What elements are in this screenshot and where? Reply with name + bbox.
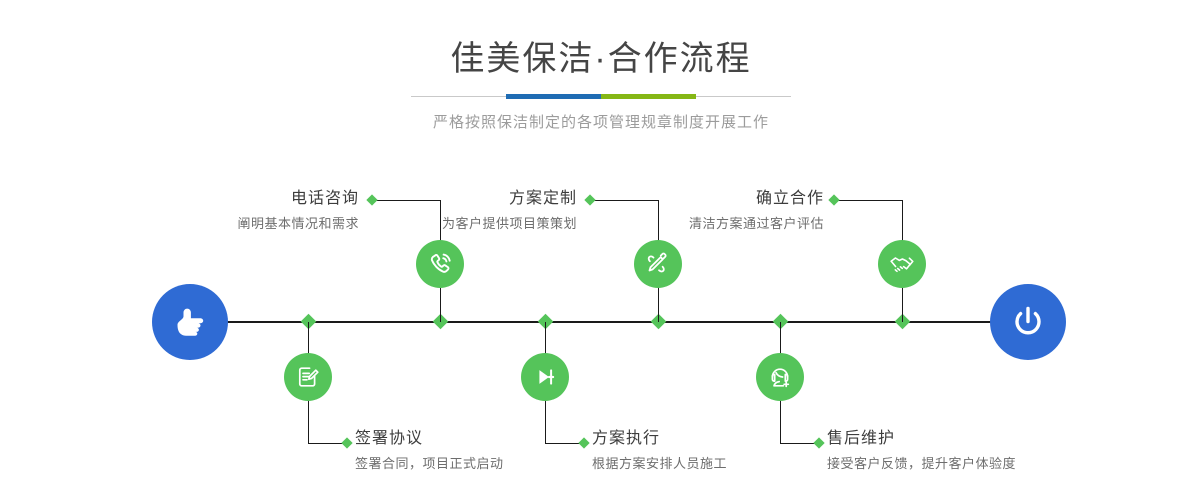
step-text-2: 签署协议 签署合同，项目正式启动 [355, 428, 504, 474]
flow-start-node[interactable] [152, 284, 228, 360]
connector-horizontal-step-5 [834, 200, 902, 201]
step-text-5: 确立合作 清洁方案通过客户评估 [689, 188, 824, 234]
customer-support-icon [766, 363, 794, 391]
step-desc-2: 签署合同，项目正式启动 [355, 454, 504, 474]
handshake-icon [888, 250, 916, 278]
step-title-6: 售后维护 [827, 428, 1016, 450]
power-icon [1007, 301, 1049, 343]
connector-horizontal-step-3 [590, 200, 658, 201]
bullet-step-6 [813, 437, 824, 448]
process-flow: 电话咨询 阐明基本情况和需求 方案定制 为客户提供项目策策划 [0, 0, 1202, 502]
step-icon-bubble-5[interactable] [878, 240, 926, 288]
contract-sign-icon [294, 363, 322, 391]
step-text-4: 方案执行 根据方案安排人员施工 [592, 428, 727, 474]
step-desc-5: 清洁方案通过客户评估 [689, 214, 824, 234]
step-text-6: 售后维护 接受客户反馈，提升客户体验度 [827, 428, 1016, 474]
step-desc-1: 阐明基本情况和需求 [237, 214, 359, 234]
bullet-step-5 [828, 194, 839, 205]
pointing-hand-icon [169, 301, 211, 343]
bullet-step-2 [341, 437, 352, 448]
connector-horizontal-step-2 [308, 443, 346, 444]
step-text-1: 电话咨询 阐明基本情况和需求 [237, 188, 359, 234]
step-desc-3: 为客户提供项目策策划 [442, 214, 577, 234]
step-desc-4: 根据方案安排人员施工 [592, 454, 727, 474]
step-icon-bubble-1[interactable] [416, 240, 464, 288]
step-title-5: 确立合作 [689, 188, 824, 210]
play-execute-icon [531, 363, 559, 391]
step-icon-bubble-6[interactable] [756, 353, 804, 401]
bullet-step-4 [578, 437, 589, 448]
step-title-4: 方案执行 [592, 428, 727, 450]
connector-horizontal-step-4 [545, 443, 583, 444]
bullet-step-1 [366, 194, 377, 205]
connector-horizontal-step-1 [372, 200, 440, 201]
step-icon-bubble-3[interactable] [634, 240, 682, 288]
bullet-step-3 [584, 194, 595, 205]
step-title-1: 电话咨询 [237, 188, 359, 210]
flow-end-node[interactable] [990, 284, 1066, 360]
step-title-2: 签署协议 [355, 428, 504, 450]
step-icon-bubble-4[interactable] [521, 353, 569, 401]
step-desc-6: 接受客户反馈，提升客户体验度 [827, 454, 1016, 474]
connector-horizontal-step-6 [780, 443, 818, 444]
step-text-3: 方案定制 为客户提供项目策策划 [442, 188, 577, 234]
phone-call-icon [426, 250, 454, 278]
flow-diagram-page: 佳美保洁·合作流程 严格按照保洁制定的各项管理规章制度开展工作 [0, 0, 1202, 502]
step-title-3: 方案定制 [442, 188, 577, 210]
pencil-design-icon [644, 250, 672, 278]
step-icon-bubble-2[interactable] [284, 353, 332, 401]
